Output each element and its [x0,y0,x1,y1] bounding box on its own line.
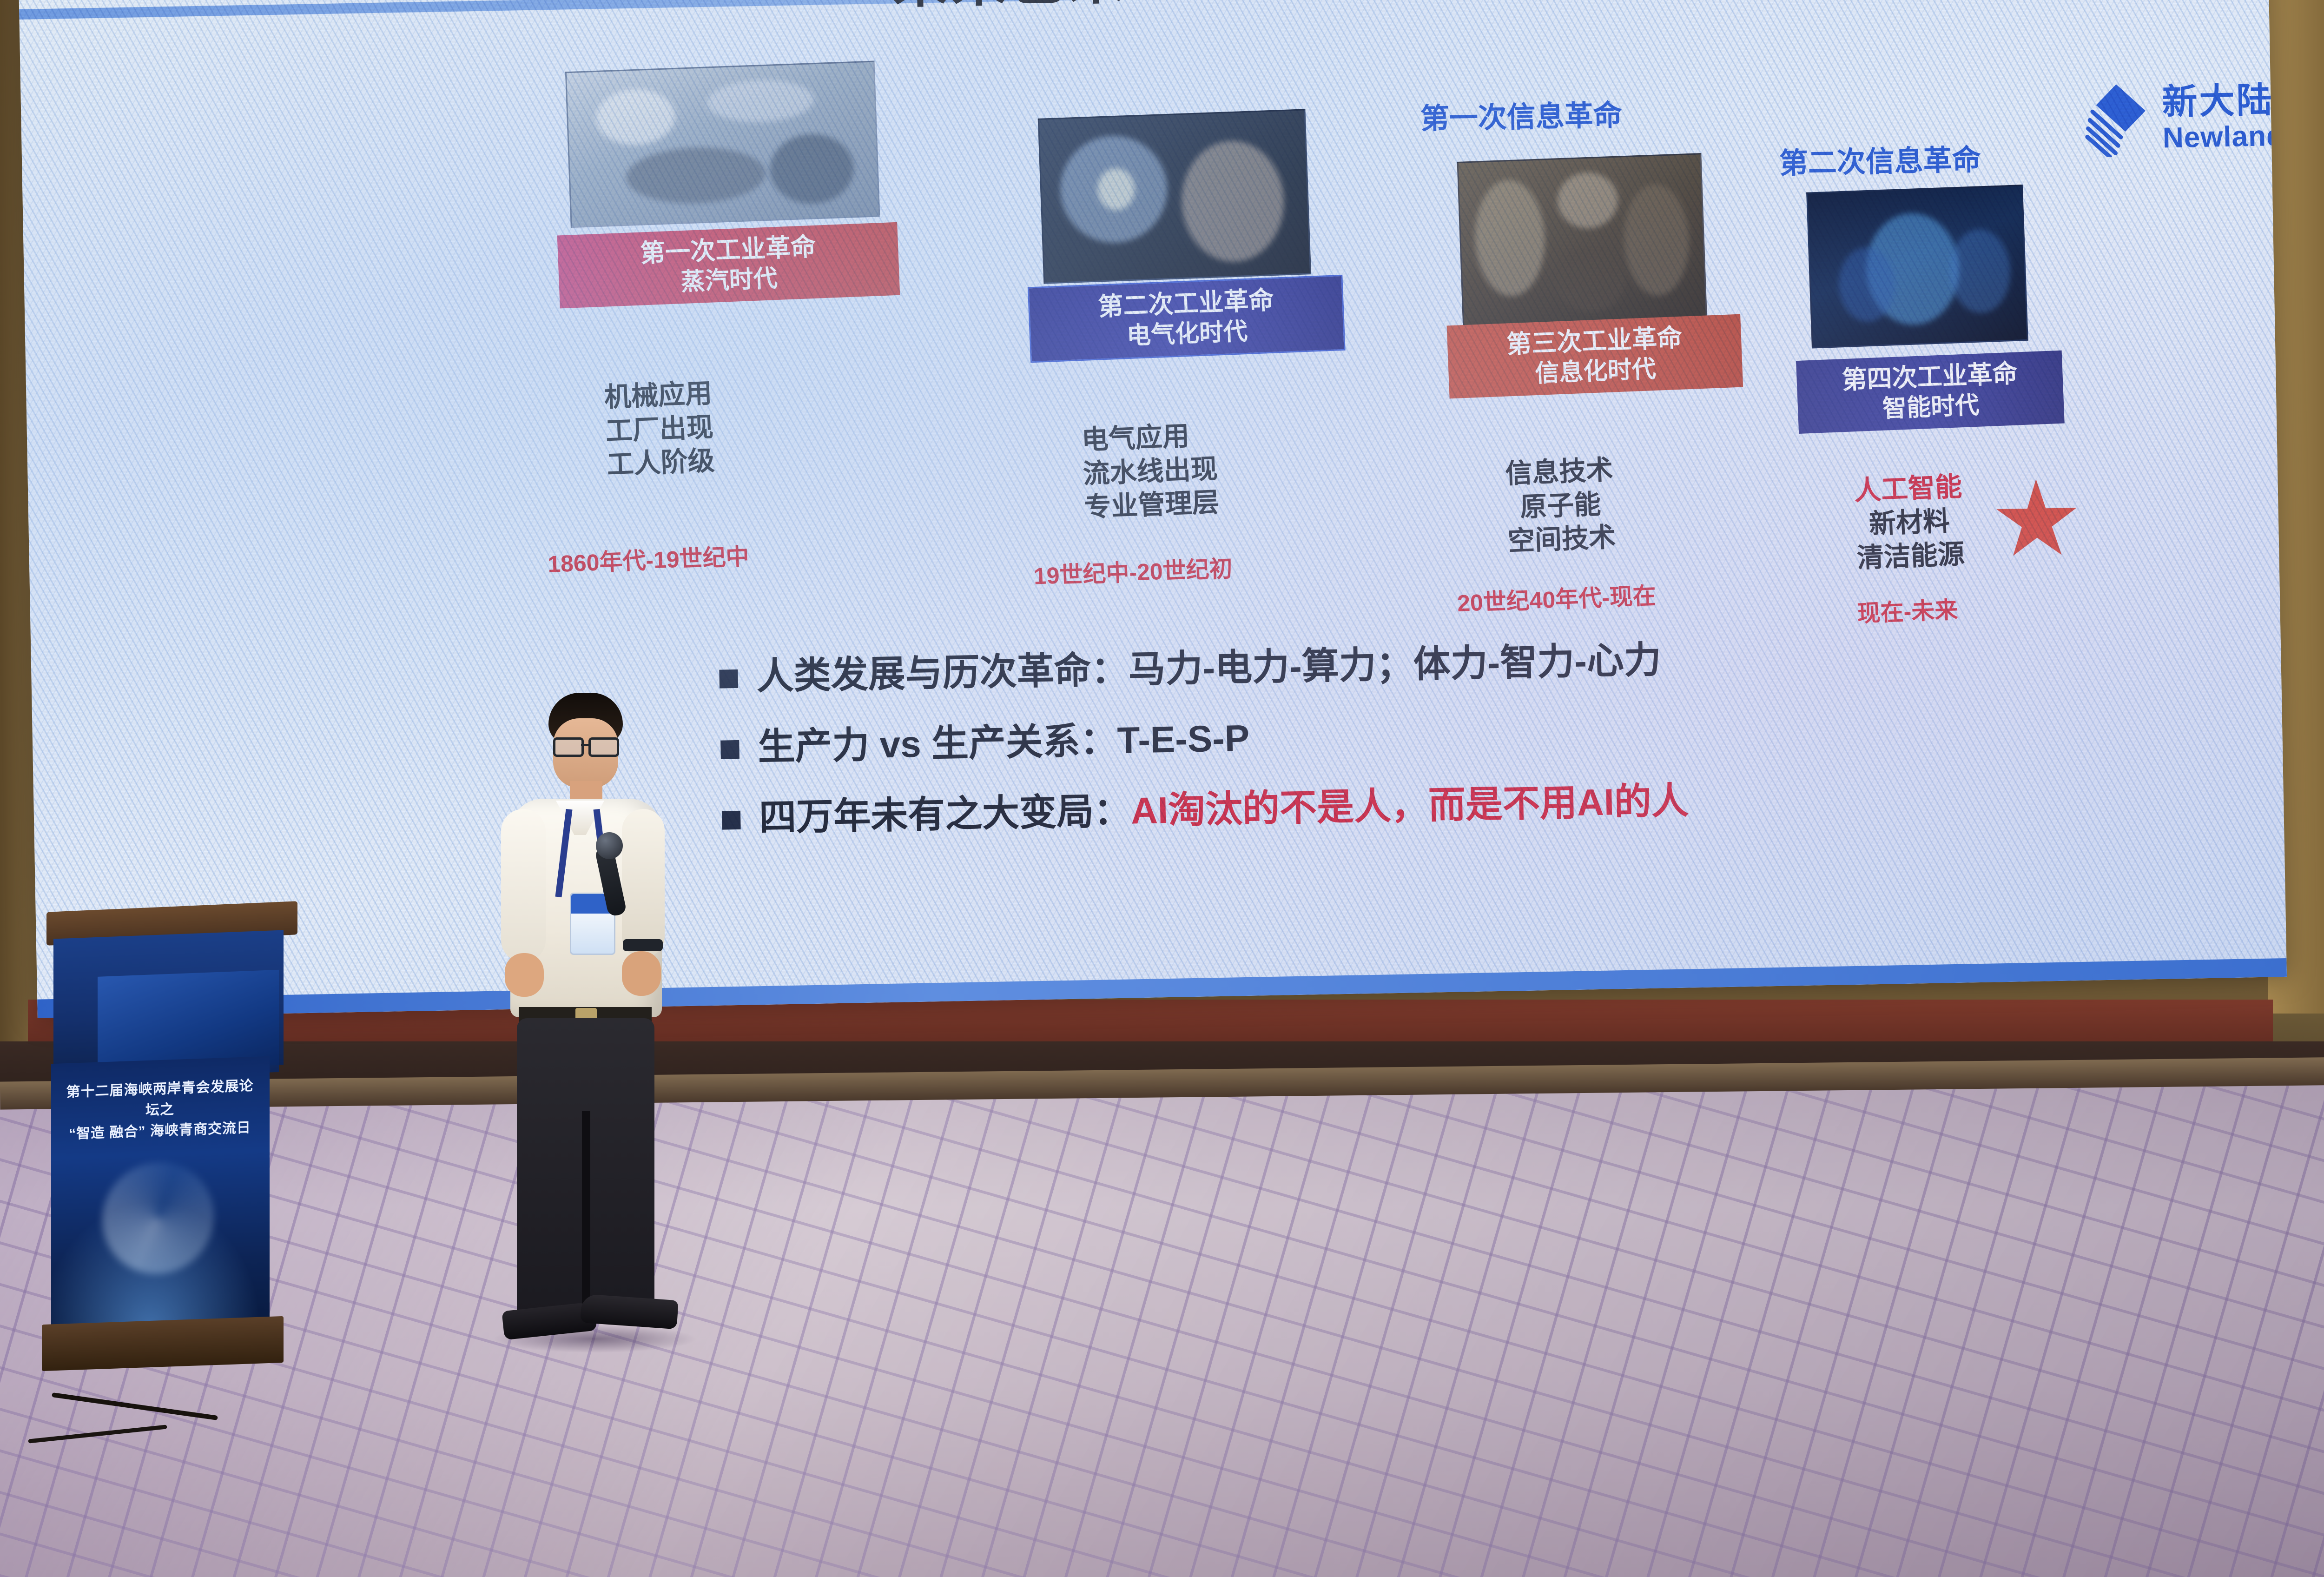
presenter-person [474,693,688,1372]
newland-wordmark: 新大陆 Newland [2162,83,2285,153]
slide-bullet-1-text: 人类发展与历次革命：马力-电力-算力；体力-智力-心力 [756,639,1662,697]
revolution-era-3: 20世纪40年代-现在 [1457,577,1657,618]
revolution-desc-4: 人工智能 新材料 清洁能源 [1854,470,1965,575]
revolution-desc-4-line3: 清洁能源 [1856,537,1966,576]
revolution-tag-3: 第三次工业革命 信息化时代 [1447,314,1743,399]
revolution-desc-2: 电气应用 流水线出现 专业管理层 [1081,418,1220,525]
presenter-leg-gap [582,1111,590,1311]
mainframe-computer-photo [1457,153,1707,327]
presenter-arm-right [622,809,665,958]
newland-logo-cn: 新大陆 [2162,83,2284,120]
presenter-hand-right [622,951,661,996]
revolution-desc-3-line3: 空间技术 [1507,521,1617,559]
speaker-podium: 第十二届海峡两岸青会发展论坛之“智造 融合” 海峡青商交流日 [28,907,302,1432]
presenter-wristwatch [623,939,663,951]
revolution-desc-2-line3: 专业管理层 [1083,486,1220,525]
ai-robot-face-photo [1806,185,2028,348]
presenter-hand-left [505,953,544,997]
slide-bullet-2-text: 生产力 vs 生产关系：T-E-S-P [758,718,1250,768]
revolution-desc-3-line2: 原子能 [1506,487,1615,525]
slide-bullet-list: 人类发展与历次革命：马力-电力-算力；体力-智力-心力 生产力 vs 生产关系：… [719,639,1690,869]
slide-bullet-2-label: 生产力 vs 生产关系： [758,720,1118,768]
edison-lightbulb-photo [1038,109,1311,284]
podium-glow [51,1186,270,1333]
section-header-info-rev-1: 第一次信息革命 [1420,92,1623,137]
revolution-desc-1-line3: 工人阶级 [606,444,715,482]
slide-bullet-2: 生产力 vs 生产关系：T-E-S-P [720,709,1688,768]
podium-banner: 第十二届海峡两岸青会发展论坛之“智造 融合” 海峡青商交流日 [51,1056,270,1333]
revolution-desc-2-line2: 流水线出现 [1082,452,1218,491]
newland-logo: 新大陆 Newland [2080,80,2285,158]
slide-title: 未来已来 [892,0,1128,18]
revolution-desc-3: 信息技术 原子能 空间技术 [1505,453,1616,558]
slide-bullet-3: 四万年未有之大变局：AI淘汰的不是人，而是不用AI的人 [721,780,1689,839]
newland-logo-en: Newland [2162,122,2284,153]
revolution-desc-3-line1: 信息技术 [1505,453,1614,491]
carpet-lighting-sheen [0,1083,2324,1577]
revolution-era-4: 现在-未来 [1856,591,1958,629]
revolution-desc-2-line1: 电气应用 [1081,418,1217,457]
slide-bullet-1: 人类发展与历次革命：马力-电力-算力；体力-智力-心力 [719,639,1686,698]
conference-stage-photo: 未来已来 新大陆 Newland 第一次信息革命 [0,0,2324,1577]
square-bullet-icon [720,740,739,759]
revolution-era-1: 1860年代-19世纪中 [547,538,750,579]
slide-title-underline [19,0,2269,20]
podium-banner-title: 第十二届海峡两岸青会发展论坛之“智造 融合” 海峡青商交流日 [62,1075,257,1145]
square-bullet-icon [719,669,738,689]
revolution-era-2: 19世纪中-20世纪初 [1033,550,1233,591]
revolution-tag-1: 第一次工业革命 蒸汽时代 [557,222,900,309]
section-header-info-rev-2: 第二次信息革命 [1779,136,1981,182]
podium-base [42,1316,284,1371]
led-presentation-screen: 未来已来 新大陆 Newland 第一次信息革命 [19,0,2287,1018]
podium-front-panel [53,930,284,1073]
revolution-desc-1-line2: 工厂出现 [605,411,714,449]
revolution-tag-4: 第四次工业革命 智能时代 [1796,351,2065,434]
red-star-icon [1994,478,2079,563]
slide-bullet-3-value: AI淘汰的不是人，而是不用AI的人 [1130,780,1689,831]
slide-bullet-1-label: 人类发展与历次革命： [756,649,1129,697]
microphone-head-icon [596,832,623,859]
eyeglasses-icon [552,737,620,753]
slide-bullet-2-value: T-E-S-P [1117,717,1250,761]
slide-bullet-3-label: 四万年未有之大变局： [759,790,1131,838]
steam-engine-photo [565,60,880,228]
revolution-desc-4-line1: 人工智能 [1854,470,1963,508]
revolution-desc-1: 机械应用 工厂出现 工人阶级 [604,377,715,482]
square-bullet-icon [722,811,741,830]
revolution-desc-1-line1: 机械应用 [604,377,713,415]
slide-bullet-1-value: 马力-电力-算力；体力-智力-心力 [1128,639,1662,690]
slide-bullet-3-text: 四万年未有之大变局：AI淘汰的不是人，而是不用AI的人 [759,780,1689,838]
revolution-desc-4-line2: 新材料 [1855,504,1964,542]
presenter-arm-left [501,809,546,962]
revolution-tag-2: 第二次工业革命 电气化时代 [1028,275,1346,363]
newland-diamond-icon [2080,82,2151,158]
